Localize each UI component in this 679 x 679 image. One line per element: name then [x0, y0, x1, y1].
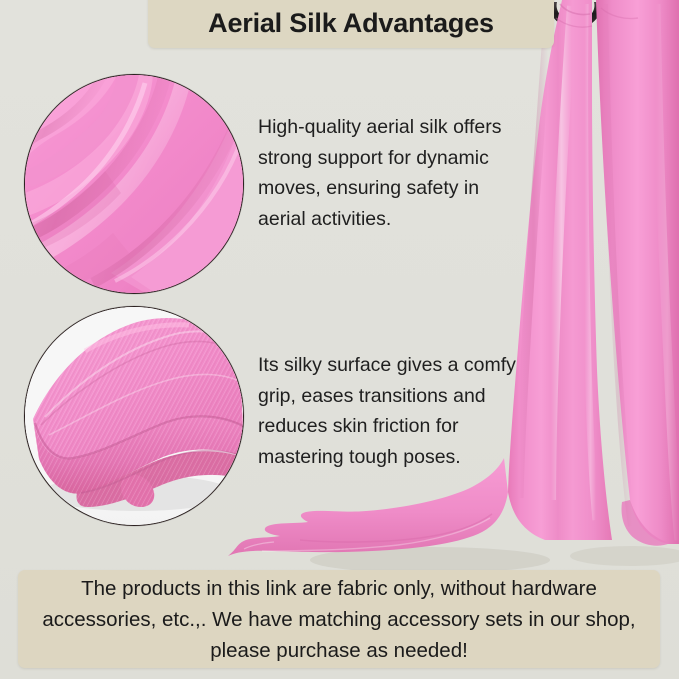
feature-text-1: High-quality aerial silk offers strong s… — [258, 112, 526, 234]
satin-drape-artwork — [25, 75, 243, 293]
footer-notice-banner: The products in this link are fabric onl… — [18, 570, 660, 668]
product-infographic: Aerial Silk Advantages — [0, 0, 679, 679]
footer-notice-text: The products in this link are fabric onl… — [30, 573, 648, 666]
feature-image-satin-drape — [24, 74, 244, 294]
page-title: Aerial Silk Advantages — [208, 0, 494, 39]
feature-text-2: Its silky surface gives a comfy grip, ea… — [258, 350, 526, 472]
folded-fabric-artwork — [25, 307, 243, 525]
title-banner: Aerial Silk Advantages — [148, 0, 554, 48]
feature-image-folded-fabric — [24, 306, 244, 526]
